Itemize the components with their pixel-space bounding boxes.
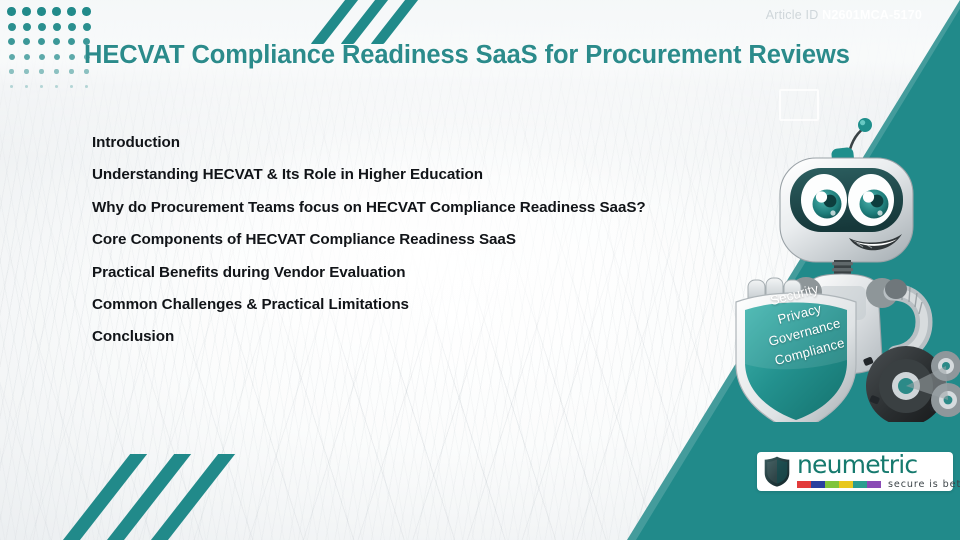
grid-dot: [68, 38, 75, 45]
grid-dot: [40, 85, 43, 88]
grid-dot: [23, 38, 30, 45]
grid-dot: [55, 85, 58, 88]
article-id-value: N2601MCA-5170: [822, 8, 922, 22]
grid-dot: [39, 54, 45, 60]
grid-dot: [9, 54, 15, 60]
article-id-label: Article ID: [766, 8, 819, 22]
color-bar-segment: [839, 481, 853, 488]
grid-dot: [38, 38, 45, 45]
article-id: Article ID N2601MCA-5170: [766, 8, 922, 22]
grid-dot: [24, 69, 28, 73]
presentation-slide: Article ID N2601MCA-5170 HECVAT Complian…: [0, 0, 960, 540]
grid-dot: [67, 7, 75, 15]
grid-dot: [82, 7, 90, 15]
grid-dot: [53, 38, 60, 45]
logo-tagline: secure is better: [888, 479, 960, 490]
logo-bottom-row: secure is better: [797, 479, 960, 490]
shield-icon: [764, 456, 790, 487]
grid-dot: [7, 7, 15, 15]
color-bar-segment: [797, 481, 811, 488]
grid-dot: [39, 69, 43, 73]
robot-mascot-icon: [726, 112, 960, 422]
color-bar-segment: [825, 481, 839, 488]
grid-dot: [22, 7, 30, 15]
diagonal-stripes-bottom: [95, 458, 295, 540]
list-item: Practical Benefits during Vendor Evaluat…: [92, 264, 646, 281]
grid-dot: [69, 69, 73, 73]
list-item: Introduction: [92, 134, 646, 151]
logo-text-block: neumetric secure is better: [797, 453, 960, 490]
dot-grid-pattern: [4, 4, 94, 94]
list-item: Core Components of HECVAT Compliance Rea…: [92, 231, 646, 248]
grid-dot: [54, 69, 58, 73]
grid-dot: [38, 23, 46, 31]
grid-dot: [54, 54, 60, 60]
grid-dot: [68, 23, 76, 31]
grid-dot: [37, 7, 45, 15]
color-bar-segment: [853, 481, 867, 488]
grid-dot: [9, 69, 13, 73]
grid-dot: [8, 23, 16, 31]
neumetric-logo[interactable]: neumetric secure is better: [757, 452, 953, 491]
list-item: Why do Procurement Teams focus on HECVAT…: [92, 199, 646, 216]
agenda-list: Introduction Understanding HECVAT & Its …: [92, 134, 646, 361]
grid-dot: [23, 23, 31, 31]
color-bar-segment: [867, 481, 881, 488]
grid-dot: [83, 23, 91, 31]
list-item: Conclusion: [92, 328, 646, 345]
list-item: Understanding HECVAT & Its Role in Highe…: [92, 166, 646, 183]
grid-dot: [53, 23, 61, 31]
logo-wordmark: neumetric: [797, 453, 960, 477]
grid-dot: [69, 54, 75, 60]
color-bar-segment: [811, 481, 825, 488]
grid-dot: [25, 85, 28, 88]
grid-dot: [10, 85, 13, 88]
grid-dot: [85, 85, 88, 88]
list-item: Common Challenges & Practical Limitation…: [92, 296, 646, 313]
grid-dot: [52, 7, 60, 15]
color-bar: [797, 481, 881, 488]
page-title: HECVAT Compliance Readiness SaaS for Pro…: [84, 41, 850, 70]
grid-dot: [70, 85, 73, 88]
grid-dot: [8, 38, 15, 45]
diagonal-stripes-top: [327, 0, 462, 42]
grid-dot: [24, 54, 30, 60]
